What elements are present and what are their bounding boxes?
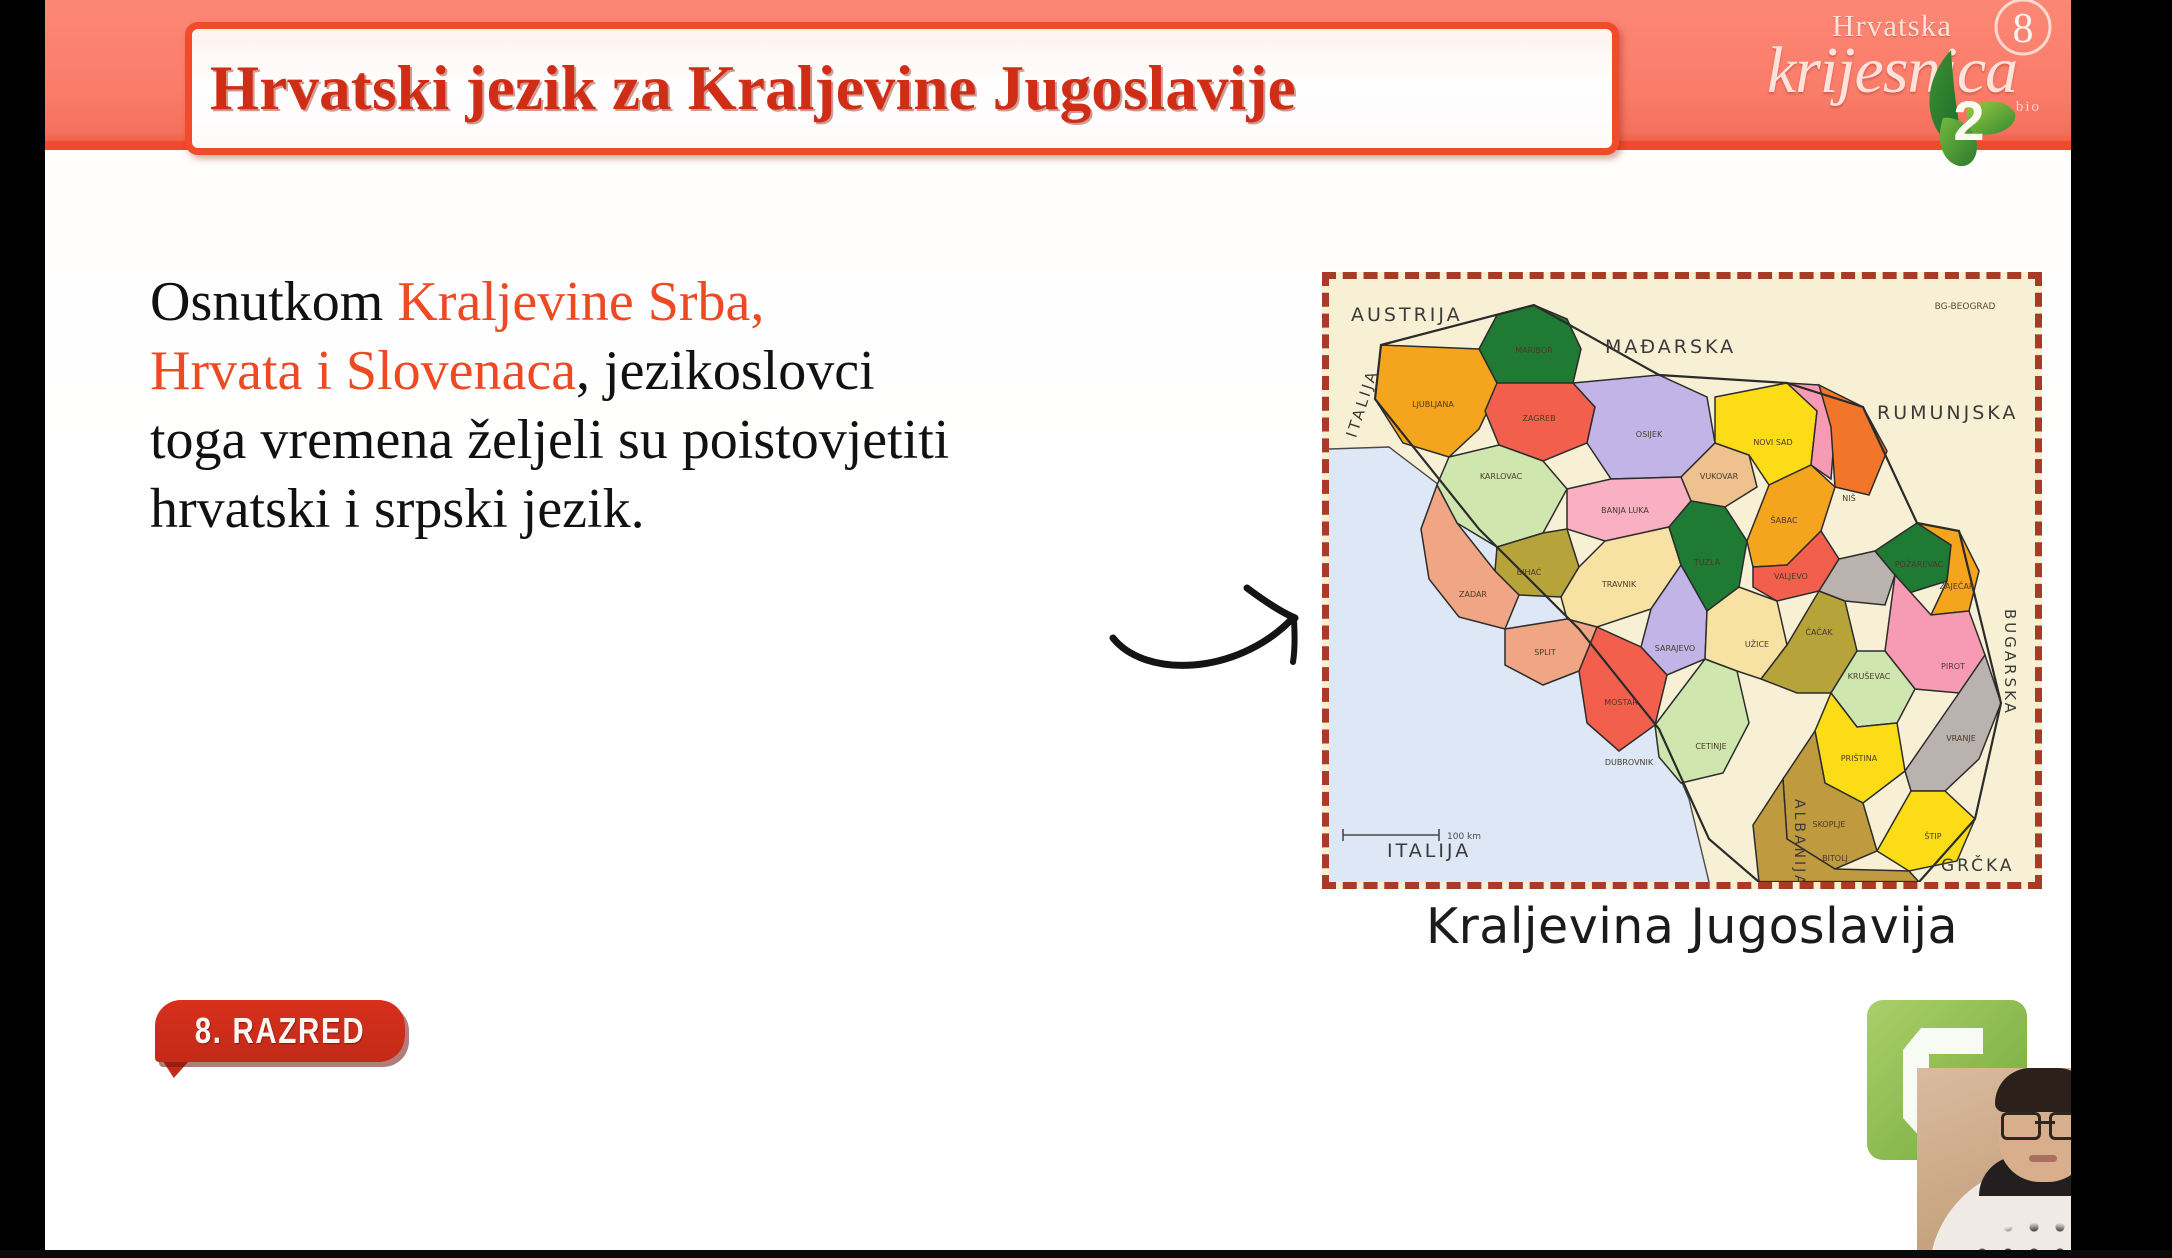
map-label-dubrovnik: DUBROVNIK <box>1605 758 1654 767</box>
map-label-novisad: NOVI SAD <box>1753 438 1792 447</box>
map-label-skoplje: SKOPLJE <box>1813 820 1846 829</box>
map-label-zajecar: ZAJEČAR <box>1940 580 1975 591</box>
map-label-knin: ZADAR <box>1459 590 1487 599</box>
page-title: Hrvatski jezik za Kraljevine Jugoslavije <box>210 52 1296 125</box>
grade-badge-label: 8. RAZRED <box>178 1000 383 1062</box>
map-label-banjaluka: BANJA LUKA <box>1601 506 1649 515</box>
grade-badge: 8. RAZRED <box>155 1000 405 1072</box>
map-label-madarska: MAĐARSKA <box>1605 336 1736 358</box>
slide-title-box: Hrvatski jezik za Kraljevine Jugoslavije <box>185 22 1619 155</box>
butterfly-badge-icon: 2 <box>1907 48 2019 168</box>
map-label-osijek: OSIJEK <box>1636 430 1663 439</box>
slide-body-text: Osnutkom Kraljevine Srba, Hrvata i Slove… <box>150 268 1310 545</box>
body-line-2-highlight: Hrvata i Slovenaca <box>150 340 576 402</box>
map-label-karlovac: KARLOVAC <box>1480 472 1523 481</box>
body-line-2: Hrvata i Slovenaca, jezikoslovci <box>150 337 1310 406</box>
map-label-uzice: UŽICE <box>1745 638 1769 649</box>
map-label-ljubljana: LJUBLJANA <box>1412 400 1454 409</box>
body-line-4: hrvatski i srpski jezik. <box>150 475 1310 544</box>
map-figure: AUSTRIJA MAĐARSKA RUMUNJSKA ITALIJA GRČK… <box>1322 272 2042 889</box>
body-line-1: Osnutkom Kraljevine Srba, <box>150 268 1310 337</box>
webcam-mouth <box>2029 1155 2057 1162</box>
map-label-bitolj: BITOLJ <box>1822 854 1848 863</box>
map-label-italija: ITALIJA <box>1387 840 1471 862</box>
map-label-bugarska: BUGARSKA <box>2001 609 2019 716</box>
map-corner-note: BG-BEOGRAD <box>1935 302 1996 312</box>
map-label-vukovar: VUKOVAR <box>1700 472 1739 481</box>
map-label-maribor: MARIBOR <box>1515 346 1553 355</box>
body-line-1-highlight: Kraljevine Srba, <box>397 271 764 333</box>
map-label-cetinje: CETINJE <box>1695 742 1726 751</box>
map-label-travnik: TRAVNIK <box>1601 580 1637 589</box>
letterbox-left <box>0 0 45 1258</box>
video-frame: Hrvatski jezik za Kraljevine Jugoslavije… <box>0 0 2172 1258</box>
svg-text:2: 2 <box>1953 89 1984 152</box>
map-label-austrija: AUSTRIJA <box>1351 304 1463 326</box>
map-label-albanija: ALBANIJA <box>1791 799 1807 882</box>
map-label-grcka: GRČKA <box>1941 854 2015 876</box>
letterbox-right <box>2071 0 2172 1258</box>
figure-caption: Kraljevina Jugoslavija <box>1322 898 2062 955</box>
map-label-zagreb: ZAGREB <box>1522 414 1555 423</box>
yugoslavia-map-image: AUSTRIJA MAĐARSKA RUMUNJSKA ITALIJA GRČK… <box>1329 279 2035 882</box>
map-label-krusevac: KRUŠEVAC <box>1848 670 1891 681</box>
map-label-mostar: MOSTAR <box>1604 698 1638 707</box>
map-label-nis: NIŠ <box>1842 492 1855 503</box>
map-scale-label: 100 km <box>1447 832 1481 842</box>
map-label-split: SPLIT <box>1534 648 1556 657</box>
map-label-pirot: PIROT <box>1941 662 1965 671</box>
body-line-3: toga vremena željeli su poistovjetiti <box>150 406 1310 475</box>
map-label-sabac: ŠABAC <box>1770 514 1798 525</box>
map-label-stip: ŠTIP <box>1924 830 1941 841</box>
map-label-cacak: ČAČAK <box>1805 626 1833 637</box>
letterbox-bottom <box>0 1250 2172 1258</box>
map-label-pozarevac: POŽAREVAC <box>1895 558 1944 569</box>
map-label-tuzla: TUZLA <box>1693 558 1721 567</box>
map-label-pristina: PRIŠTINA <box>1841 752 1878 763</box>
map-label-rumunjska: RUMUNJSKA <box>1877 402 2018 424</box>
map-label-sarajevo: SARAJEVO <box>1655 644 1695 653</box>
map-label-vranje: VRANJE <box>1946 734 1976 743</box>
body-line-2-plain: , jezikoslovci <box>576 340 875 402</box>
presentation-slide: Hrvatski jezik za Kraljevine Jugoslavije… <box>45 0 2071 1250</box>
map-label-bihac: BIHAĆ <box>1517 566 1542 577</box>
body-line-1-plain: Osnutkom <box>150 271 397 333</box>
map-label-valjevo: VALJEVO <box>1774 572 1808 581</box>
